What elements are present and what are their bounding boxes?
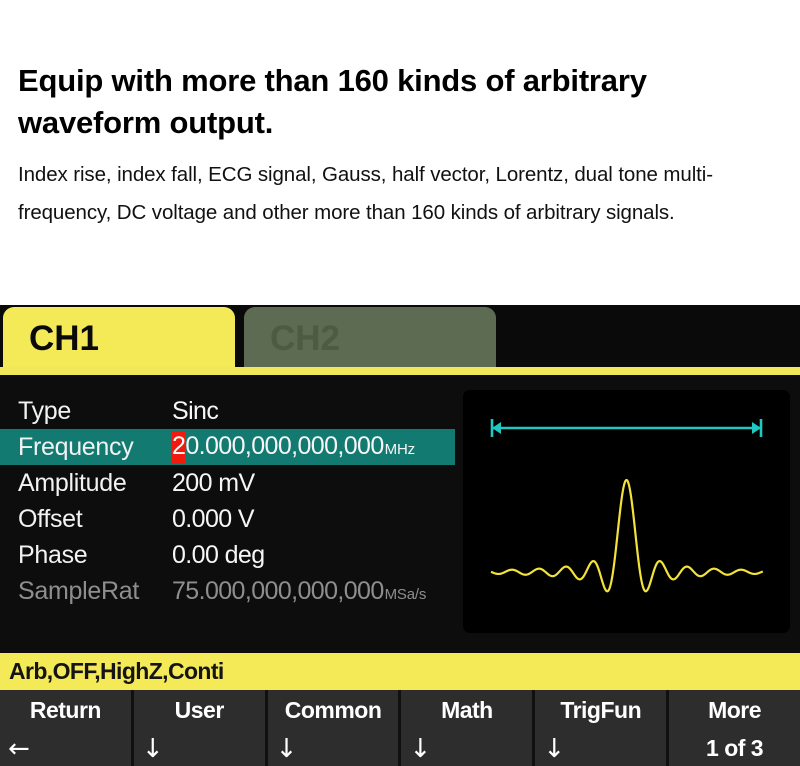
param-value-offset-text: 0.000 V — [172, 505, 254, 534]
arrow-down-icon: ↓ — [276, 736, 298, 762]
param-value-frequency: 20.000,000,000,000MHz — [172, 431, 415, 463]
arrow-down-icon: ↓ — [409, 736, 431, 762]
softkey-common-label: Common — [285, 697, 382, 724]
waveform-preview-panel — [463, 390, 790, 633]
param-value-frequency-text: 0.000,000,000,000 — [185, 432, 383, 461]
softkey-more-page-indicator: 1 of 3 — [669, 735, 800, 762]
marketing-copy: Equip with more than 160 kinds of arbitr… — [0, 0, 800, 305]
param-unit-samplerate: MSa/s — [385, 586, 427, 603]
param-label-phase: Phase — [18, 541, 172, 570]
headline: Equip with more than 160 kinds of arbitr… — [18, 60, 786, 144]
softkey-trigfun-label: TrigFun — [560, 697, 641, 724]
status-bar-text: Arb,OFF,HighZ,Conti — [9, 658, 224, 685]
param-value-phase-text: 0.00 deg — [172, 541, 265, 570]
tab-ch1[interactable]: CH1 — [3, 307, 235, 369]
softkey-more-label: More — [708, 697, 761, 724]
tab-ch2-label: CH2 — [270, 321, 340, 356]
param-row-frequency[interactable]: Frequency 20.000,000,000,000MHz — [0, 429, 455, 465]
param-value-samplerate: 75.000,000,000,000MSa/s — [172, 577, 426, 606]
param-value-offset: 0.000 V — [172, 505, 254, 534]
softkey-user-label: User — [175, 697, 224, 724]
softkey-return-label: Return — [30, 697, 101, 724]
body-copy: Index rise, index fall, ECG signal, Gaus… — [18, 156, 786, 232]
tab-underline — [0, 367, 800, 375]
softkey-math-label: Math — [441, 697, 493, 724]
param-row-phase[interactable]: Phase 0.00 deg — [0, 537, 455, 573]
sinc-waveform-trace — [491, 480, 763, 591]
tab-ch1-label: CH1 — [29, 321, 99, 356]
softkey-math[interactable]: Math ↓ — [401, 690, 535, 766]
parameter-list: Type Sinc Frequency 20.000,000,000,000MH… — [0, 375, 455, 650]
param-value-samplerate-text: 75.000,000,000,000 — [172, 577, 384, 606]
span-marker-icon — [492, 419, 761, 437]
param-value-amplitude-text: 200 mV — [172, 469, 255, 498]
param-label-type: Type — [18, 397, 172, 426]
arrow-down-icon: ↓ — [142, 736, 164, 762]
softkey-more[interactable]: More 1 of 3 — [669, 690, 800, 766]
softkey-common[interactable]: Common ↓ — [268, 690, 402, 766]
tab-ch2[interactable]: CH2 — [244, 307, 496, 369]
param-row-samplerate: SampleRat 75.000,000,000,000MSa/s — [0, 573, 455, 609]
softkey-return[interactable]: Return ← — [0, 690, 134, 766]
page-root: Equip with more than 160 kinds of arbitr… — [0, 0, 800, 766]
arrow-down-icon: ↓ — [543, 736, 565, 762]
param-row-type[interactable]: Type Sinc — [0, 393, 455, 429]
softkey-trigfun[interactable]: TrigFun ↓ — [535, 690, 669, 766]
channel-tab-strip: CH1 CH2 — [0, 305, 800, 375]
arrow-left-icon: ← — [8, 736, 30, 762]
param-label-frequency: Frequency — [18, 433, 172, 462]
waveform-preview-svg — [463, 390, 790, 633]
param-value-type-text: Sinc — [172, 397, 218, 426]
param-value-type: Sinc — [172, 397, 218, 426]
param-label-offset: Offset — [18, 505, 172, 534]
param-label-samplerate: SampleRat — [18, 577, 172, 606]
instrument-screen: CH1 CH2 Type Sinc Frequency 20.000,000,0… — [0, 305, 800, 766]
param-row-amplitude[interactable]: Amplitude 200 mV — [0, 465, 455, 501]
param-value-phase: 0.00 deg — [172, 541, 265, 570]
status-bar: Arb,OFF,HighZ,Conti — [0, 653, 800, 690]
softkey-user[interactable]: User ↓ — [134, 690, 268, 766]
param-label-amplitude: Amplitude — [18, 469, 172, 498]
param-value-amplitude: 200 mV — [172, 469, 255, 498]
softkey-row: Return ← User ↓ Common ↓ Math ↓ TrigFun … — [0, 690, 800, 766]
param-row-offset[interactable]: Offset 0.000 V — [0, 501, 455, 537]
frequency-cursor-digit: 2 — [172, 431, 185, 463]
param-unit-frequency: MHz — [385, 441, 415, 458]
